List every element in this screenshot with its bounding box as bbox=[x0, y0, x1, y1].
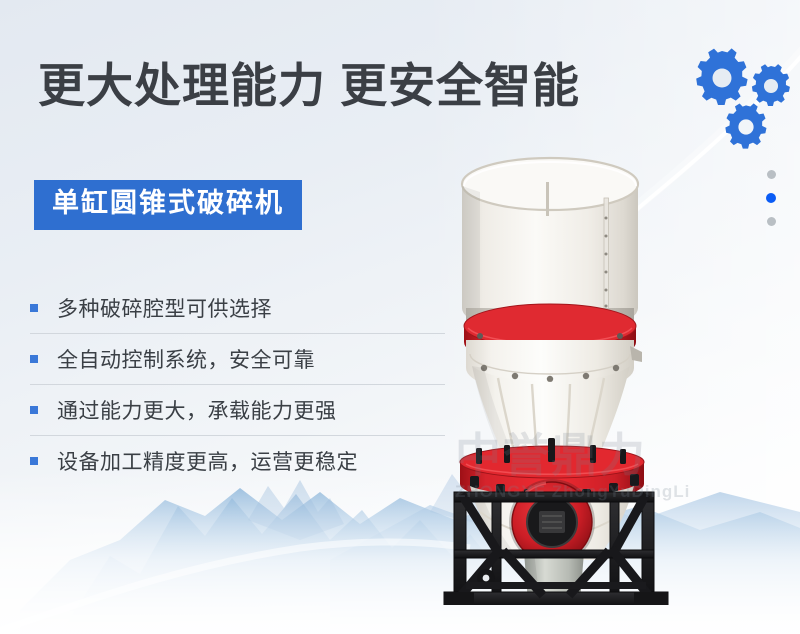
page-title: 更大处理能力 更安全智能 bbox=[38, 58, 580, 113]
product-name-badge: 单缸圆锥式破碎机 bbox=[34, 180, 302, 230]
product-banner: 中誉鼎力 ZHONGYE ZhongYuDingLi 更大处理能力 更安全智能 … bbox=[0, 0, 800, 634]
carousel-dot-3[interactable] bbox=[767, 217, 776, 226]
bullet-square-icon bbox=[30, 355, 38, 363]
feature-text: 通过能力更大，承载能力更强 bbox=[57, 395, 337, 425]
list-item: 通过能力更大，承载能力更强 bbox=[30, 385, 445, 436]
feature-list: 多种破碎腔型可供选择 全自动控制系统，安全可靠 通过能力更大，承载能力更强 设备… bbox=[30, 283, 445, 486]
carousel-indicator[interactable] bbox=[766, 170, 776, 226]
feature-text: 多种破碎腔型可供选择 bbox=[57, 293, 272, 323]
list-item: 全自动控制系统，安全可靠 bbox=[30, 334, 445, 385]
feature-text: 全自动控制系统，安全可靠 bbox=[57, 344, 315, 374]
carousel-dot-2[interactable] bbox=[766, 193, 776, 203]
carousel-dot-1[interactable] bbox=[767, 170, 776, 179]
list-item: 多种破碎腔型可供选择 bbox=[30, 283, 445, 334]
feature-text: 设备加工精度更高，运营更稳定 bbox=[57, 446, 358, 476]
bullet-square-icon bbox=[30, 304, 38, 312]
product-image bbox=[420, 140, 760, 605]
bullet-square-icon bbox=[30, 457, 38, 465]
bullet-square-icon bbox=[30, 406, 38, 414]
list-item: 设备加工精度更高，运营更稳定 bbox=[30, 436, 445, 486]
